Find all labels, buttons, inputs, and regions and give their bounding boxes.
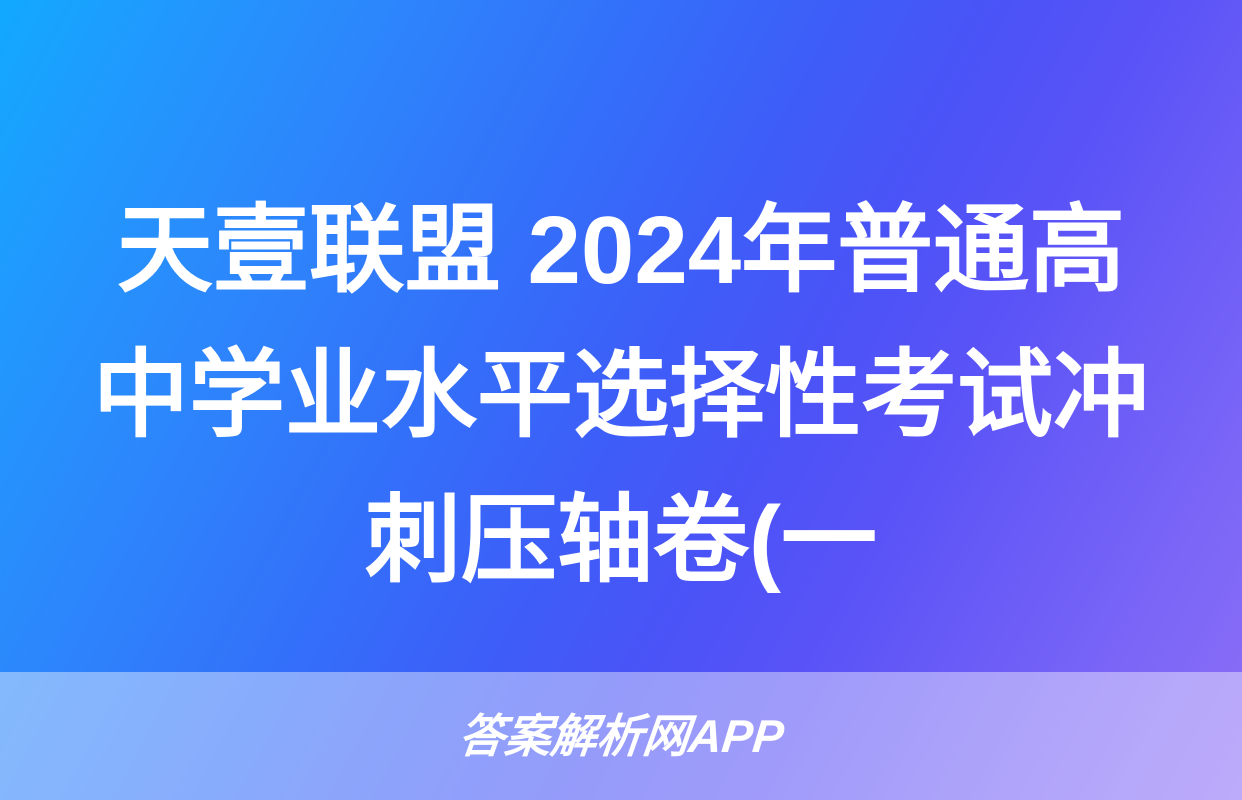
page-title: 天壹联盟 2024年普通高 中学业水平选择性考试冲 刺压轴卷(一 [0, 178, 1242, 613]
title-line-2: 中学业水平选择性考试冲 [40, 323, 1202, 468]
watermark-label: 答案解析网APP [456, 713, 785, 759]
title-line-1: 天壹联盟 2024年普通高 [40, 178, 1202, 323]
watermark-strip: 答案解析网APP [0, 672, 1242, 800]
share-card: 天壹联盟 2024年普通高 中学业水平选择性考试冲 刺压轴卷(一 答案解析网AP… [0, 0, 1242, 800]
title-line-3: 刺压轴卷(一 [40, 468, 1202, 613]
